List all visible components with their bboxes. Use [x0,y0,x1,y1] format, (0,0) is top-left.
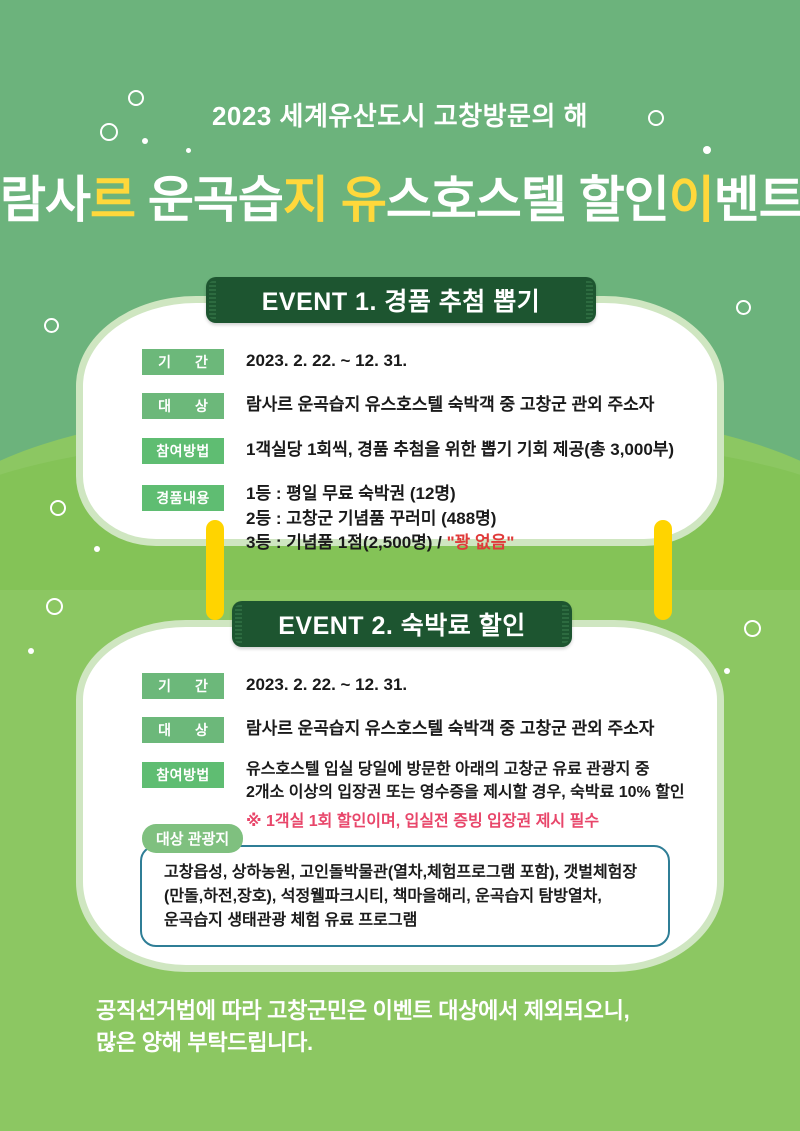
footer-disclaimer: 공직선거법에 따라 고창군민은 이벤트 대상에서 제외되오니, 많은 양해 부탁… [96,995,736,1059]
promo-poster: 2023 세계유산도시 고창방문의 해 람사르 운곡습지 유스호스텔 할인이벤트… [0,0,800,1131]
headline-seg-2: 운곡습 [135,172,283,228]
event2-target-value: 람사르 운곡습지 유스호스텔 숙박객 중 고창군 관외 주소자 [246,717,654,741]
event1-row-target: 대 상 람사르 운곡습지 유스호스텔 숙박객 중 고창군 관외 주소자 [142,393,654,419]
event1-prize-label: 경품내용 [142,485,224,511]
headline-seg-3: 지 [283,172,328,228]
headline-seg-10: 벤트 [714,172,800,228]
attractions-label-chip: 대상 관광지 [142,824,243,853]
event1-row-method: 참여방법 1객실당 1회씩, 경품 추첨을 위한 뽑기 기회 제공(총 3,00… [142,438,674,464]
event2-method-note: ※ 1객실 1회 할인이며, 입실전 증빙 입장권 제시 필수 [246,810,685,833]
prize-no-loss-badge: "꽝 없음" [447,533,515,552]
decor-dot-2 [186,148,191,153]
event1-method-value: 1객실당 1회씩, 경품 추첨을 위한 뽑기 기회 제공(총 3,000부) [246,438,674,462]
event1-target-value: 람사르 운곡습지 유스호스텔 숙박객 중 고창군 관외 주소자 [246,393,654,417]
event1-target-label: 대 상 [142,393,224,419]
event1-method-label: 참여방법 [142,438,224,464]
event1-prize-list: 1등 : 평일 무료 숙박권 (12명) 2등 : 고창군 기념품 꾸러미 (4… [246,482,514,556]
event2-method-label: 참여방법 [142,762,224,788]
decor-dot-6 [94,546,100,552]
event2-row-method: 참여방법 유스호스텔 입실 당일에 방문한 아래의 고창군 유료 관광지 중 2… [142,762,685,834]
attractions-list-box: 고창읍성, 상하농원, 고인돌박물관(열차,체험프로그램 포함), 갯벌체험장 … [140,845,670,947]
poster-kicker: 2023 세계유산도시 고창방문의 해 [0,96,800,133]
event2-method-body: 유스호스텔 입실 당일에 방문한 아래의 고창군 유료 관광지 중 2개소 이상… [246,759,685,834]
event2-period-value: 2023. 2. 22. ~ 12. 31. [246,673,407,697]
decor-ring-4 [44,318,59,333]
prize-line-1: 1등 : 평일 무료 숙박권 (12명) [246,482,514,507]
decor-dot-3 [703,146,711,154]
event2-target-label: 대 상 [142,717,224,743]
headline-seg-6: 스호스 [386,172,521,228]
decor-ring-5 [736,300,751,315]
headline-seg-0: 람사 [0,172,90,228]
headline-seg-4 [328,172,341,228]
event2-row-period: 기 간 2023. 2. 22. ~ 12. 31. [142,673,407,699]
headline-seg-5: 유 [341,172,386,228]
event1-period-value: 2023. 2. 22. ~ 12. 31. [246,349,407,373]
prize-line-3-text: 3등 : 기념품 1점(2,500명) / [246,533,447,552]
connector-left-bar [206,520,224,620]
event2-row-target: 대 상 람사르 운곡습지 유스호스텔 숙박객 중 고창군 관외 주소자 [142,717,654,743]
event2-method-line2: 2개소 이상의 입장권 또는 영수증을 제시할 경우, 숙박료 10% 할인 [246,782,685,805]
prize-line-2: 2등 : 고창군 기념품 꾸러미 (488명) [246,507,514,532]
headline-seg-7: 텔 할 [521,172,624,228]
decor-ring-6 [46,598,63,615]
event1-row-period: 기 간 2023. 2. 22. ~ 12. 31. [142,349,407,375]
headline-seg-1: 르 [90,172,135,228]
decor-dot-5 [724,668,730,674]
event2-period-label: 기 간 [142,673,224,699]
event1-row-prize: 경품내용 1등 : 평일 무료 숙박권 (12명) 2등 : 고창군 기념품 꾸… [142,485,514,556]
connector-left [204,520,226,620]
decor-ring-7 [744,620,761,637]
event1-period-label: 기 간 [142,349,224,375]
event2-banner: EVENT 2. 숙박료 할인 [232,601,572,647]
headline-seg-8: 인 [624,172,669,228]
prize-line-3: 3등 : 기념품 1점(2,500명) / "꽝 없음" [246,531,514,556]
headline-seg-9: 이 [669,172,714,228]
event2-method-line1: 유스호스텔 입실 당일에 방문한 아래의 고창군 유료 관광지 중 [246,759,685,782]
connector-right [652,520,674,620]
decor-ring-8 [50,500,66,516]
decor-dot-4 [28,648,34,654]
poster-headline: 람사르 운곡습지 유스호스텔 할인이벤트 [0,160,800,232]
event1-banner: EVENT 1. 경품 추첨 뽑기 [206,277,596,323]
connector-right-bar [654,520,672,620]
decor-dot-1 [142,138,148,144]
